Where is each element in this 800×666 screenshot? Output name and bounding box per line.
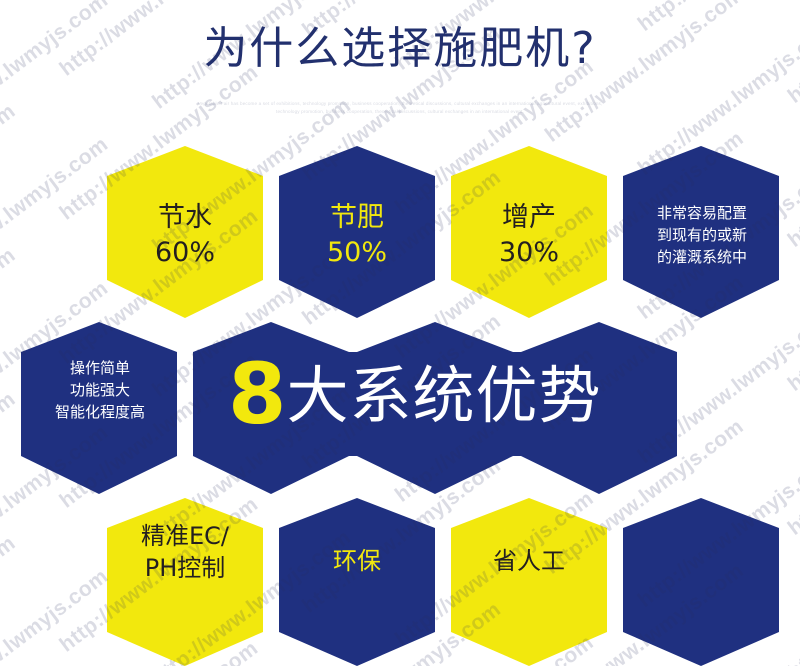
center-number: 8 bbox=[228, 345, 286, 443]
hex-shape-fertilizer-saving bbox=[279, 146, 435, 318]
subtitle-line-1: Vegetable Fair has become a set of exhib… bbox=[0, 100, 800, 108]
center-text: 大系统优势 bbox=[286, 359, 601, 432]
infographic-canvas: http://www.lwmyjs.comhttp://www.lwmyjs.c… bbox=[0, 0, 800, 666]
center-headline: 8大系统优势 bbox=[228, 345, 648, 443]
hex-shape-blank-right bbox=[623, 498, 779, 666]
hex-shape-easy-operation bbox=[21, 322, 177, 494]
page-title: 为什么选择施肥机? bbox=[0, 24, 800, 75]
hex-shape-easy-config bbox=[623, 146, 779, 318]
subtitle-line-2: technology promotion, business cooperati… bbox=[0, 108, 800, 116]
hex-shape-water-saving bbox=[107, 146, 263, 318]
hex-shape-yield-increase bbox=[451, 146, 607, 318]
hex-shape-save-labor bbox=[451, 498, 607, 666]
hex-shape-eco-friendly bbox=[279, 498, 435, 666]
hex-shape-ec-ph-control bbox=[107, 498, 263, 666]
subtitle-block: Vegetable Fair has become a set of exhib… bbox=[0, 100, 800, 116]
